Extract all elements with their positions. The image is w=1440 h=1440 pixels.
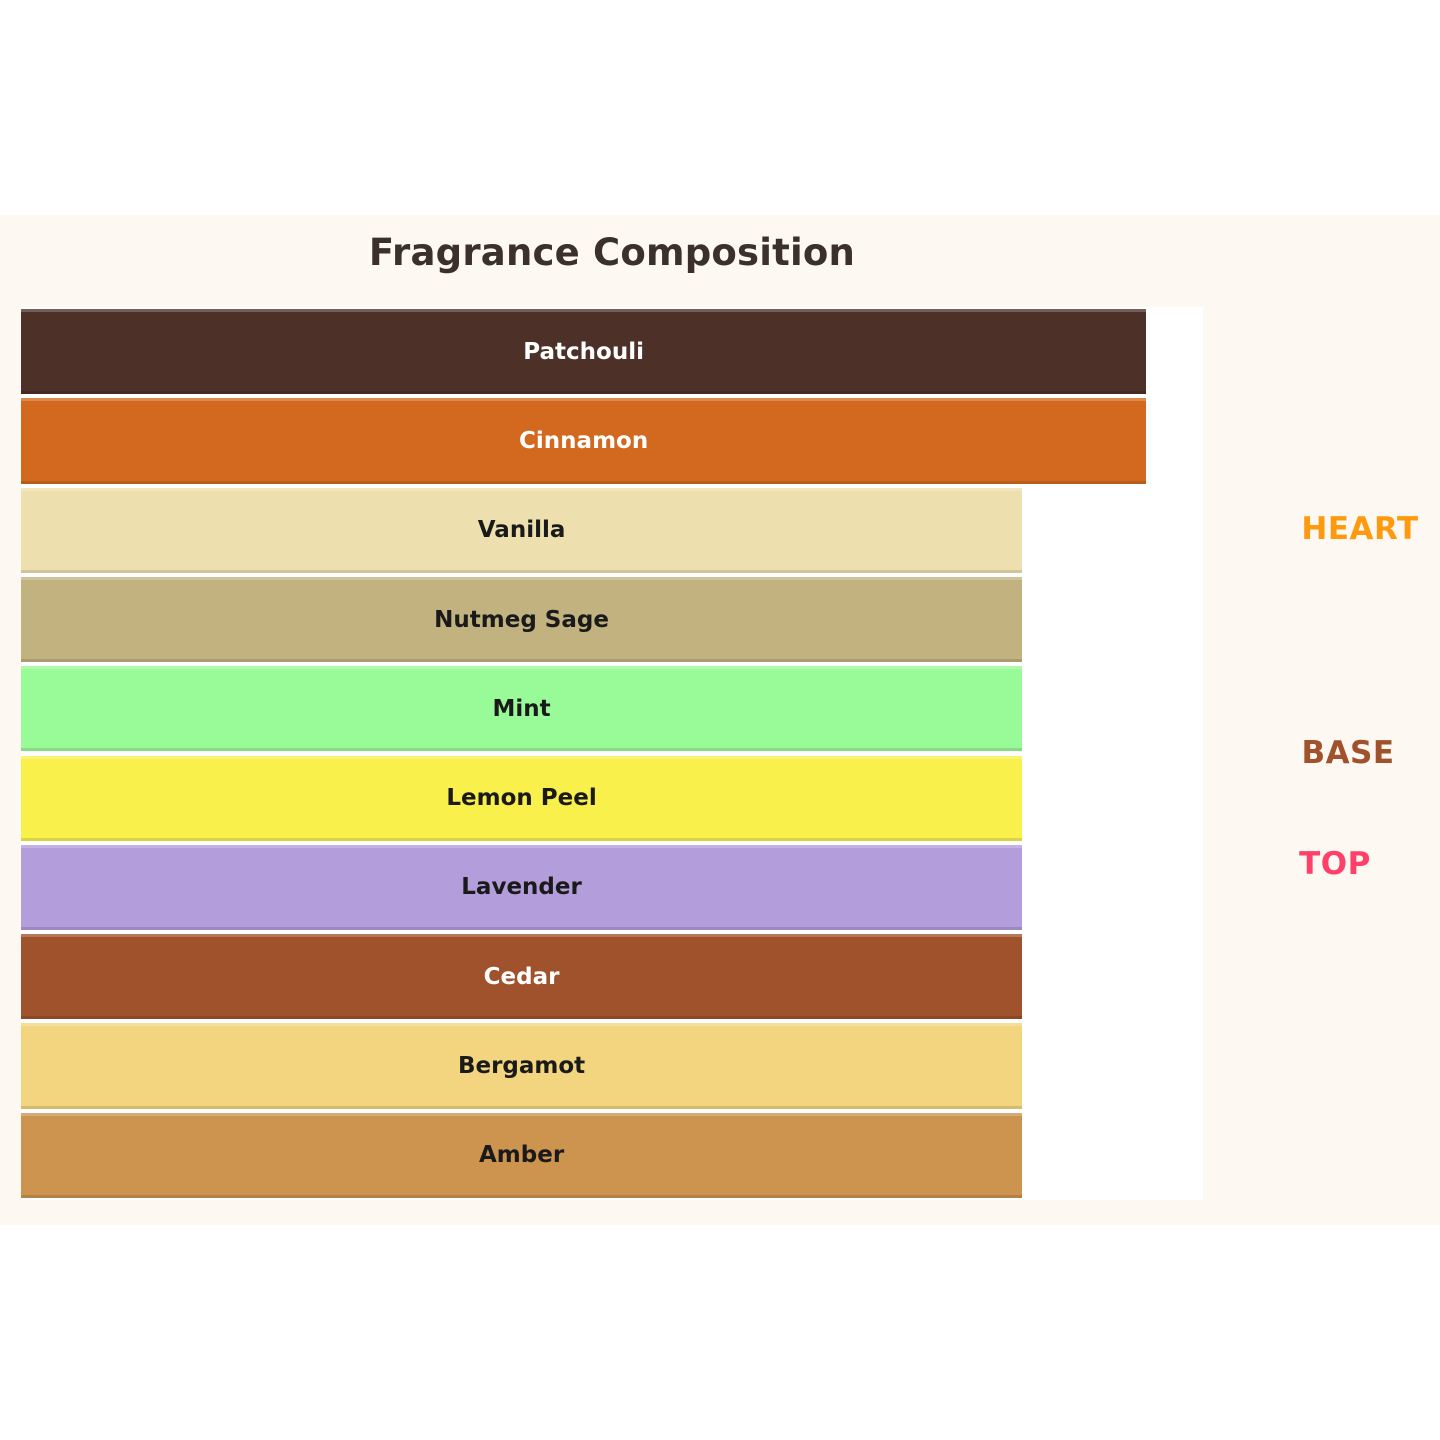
bar-row: Nutmeg Sage — [21, 577, 1203, 662]
bar-segment[interactable] — [21, 845, 1022, 930]
bar-segment[interactable] — [21, 577, 1022, 662]
bar-row: Lemon Peel — [21, 756, 1203, 841]
bar-row: Vanilla — [21, 488, 1203, 573]
stage-label-base: BASE — [1301, 735, 1394, 771]
page-title: Fragrance Composition — [0, 231, 1224, 274]
bar-segment[interactable] — [21, 488, 1022, 573]
bar-segment[interactable] — [21, 309, 1146, 394]
stage-label-heart: HEART — [1301, 511, 1418, 547]
bar-row: Lavender — [21, 845, 1203, 930]
bar-row: Cinnamon — [21, 398, 1203, 483]
chart-figure: Fragrance Composition PatchouliCinnamonV… — [0, 215, 1440, 1225]
bar-row: Mint — [21, 666, 1203, 751]
plot-area: PatchouliCinnamonVanillaNutmeg SageMintL… — [21, 307, 1203, 1200]
bar-row: Patchouli — [21, 309, 1203, 394]
bar-segment[interactable] — [21, 666, 1022, 751]
bar-row: Bergamot — [21, 1023, 1203, 1108]
bar-row: Amber — [21, 1113, 1203, 1198]
bar-segment[interactable] — [21, 1113, 1022, 1198]
bar-segment[interactable] — [21, 934, 1022, 1019]
bar-row: Cedar — [21, 934, 1203, 1019]
stage-label-top: TOP — [1299, 846, 1371, 882]
bar-segment[interactable] — [21, 398, 1146, 483]
bar-segment[interactable] — [21, 1023, 1022, 1108]
bar-segment[interactable] — [21, 756, 1022, 841]
